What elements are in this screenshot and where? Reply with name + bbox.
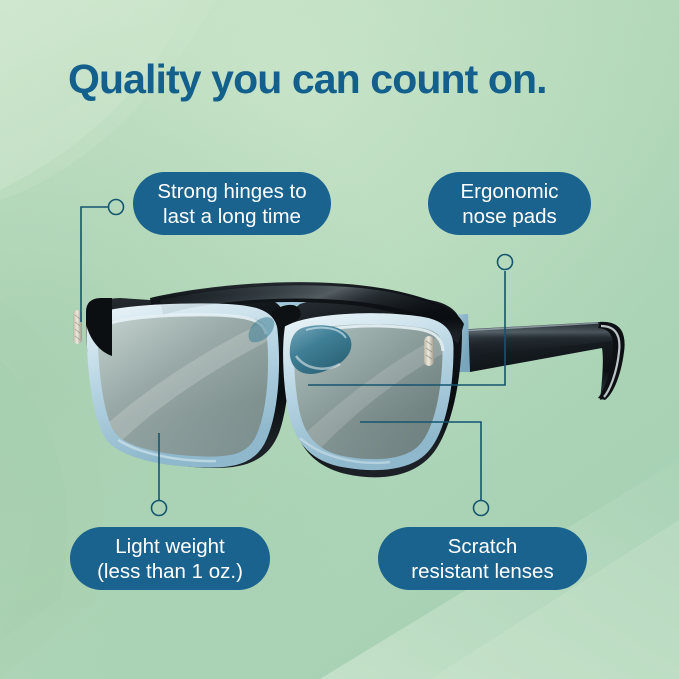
product-infographic: Quality you can count on. bbox=[0, 0, 679, 679]
hinge-rivet-right bbox=[424, 336, 434, 366]
callout-scratch-resistant-lenses[interactable]: Scratch resistant lenses bbox=[378, 527, 587, 590]
callout-light-weight[interactable]: Light weight (less than 1 oz.) bbox=[70, 527, 270, 590]
temple-arm bbox=[452, 322, 625, 400]
callout-strong-hinges[interactable]: Strong hinges to last a long time bbox=[133, 172, 331, 235]
right-hinge bbox=[424, 336, 434, 366]
hinge-rivet-left bbox=[73, 310, 82, 344]
callout-ergonomic-nose-pads[interactable]: Ergonomic nose pads bbox=[428, 172, 591, 235]
